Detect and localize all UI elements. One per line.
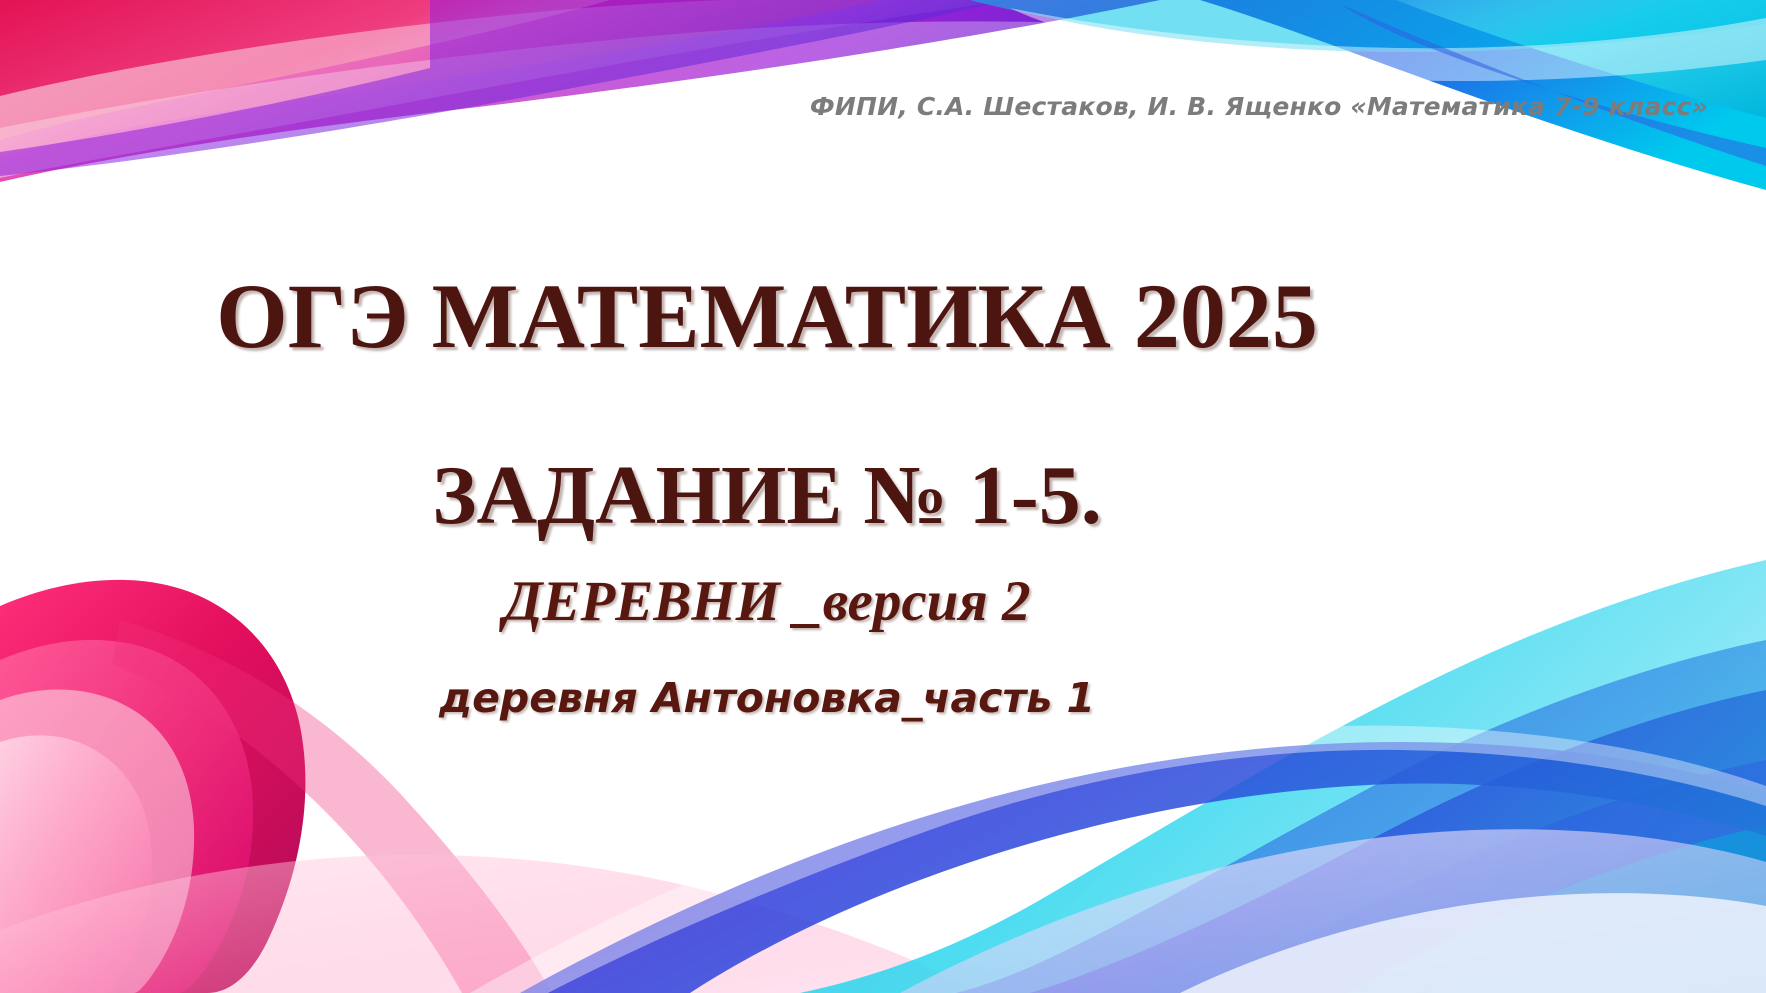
village-part-subtitle: деревня Антоновка_часть 1 <box>0 676 1534 721</box>
slide-content: ФИПИ, С.А. Шестаков, И. В. Ященко «Матем… <box>0 0 1766 993</box>
source-credit-line: ФИПИ, С.А. Шестаков, И. В. Ященко «Матем… <box>0 92 1708 121</box>
page-title: ОГЭ МАТЕМАТИКА 2025 <box>0 268 1534 366</box>
presentation-slide: ФИПИ, С.А. Шестаков, И. В. Ященко «Матем… <box>0 0 1766 993</box>
topic-version-subtitle: ДЕРЕВНИ _версия 2 <box>0 571 1534 634</box>
task-number-heading: ЗАДАНИЕ № 1-5. <box>0 451 1534 540</box>
